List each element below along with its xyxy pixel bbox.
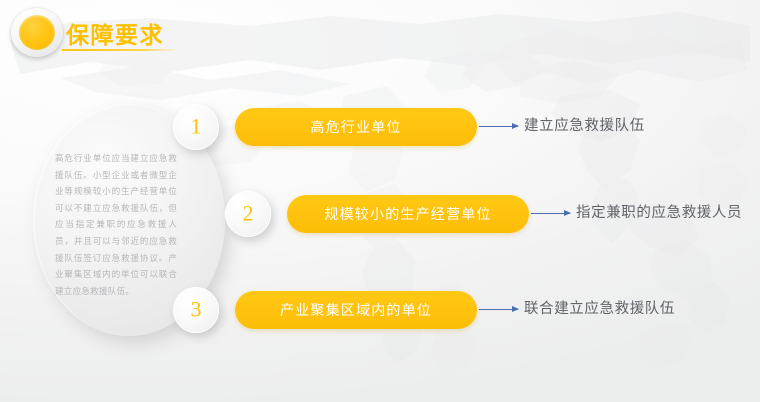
title-bullet-logo: [11, 8, 65, 58]
category-pill-label-1: 高危行业单位: [235, 117, 477, 137]
connector-arrow-1: [479, 126, 518, 127]
slide-canvas: 保障要求 高危行业单位应当建立应急救援队伍。小型企业或者微型企业等规模较小的生产…: [0, 0, 760, 402]
flow-row-1: 1 高危行业单位 建立应急救援队伍: [173, 104, 753, 150]
step-number-circle-2: 2: [225, 191, 271, 237]
page-title: 保障要求: [66, 16, 164, 50]
step-number-2: 2: [225, 200, 271, 226]
yellow-circle-bullet-icon: [19, 15, 55, 50]
flow-row-2: 2 规模较小的生产经营单位 指定兼职的应急救援人员: [225, 191, 760, 237]
category-pill-3[interactable]: 产业聚集区域内的单位: [235, 291, 477, 329]
step-number-1: 1: [173, 113, 219, 139]
category-pill-2[interactable]: 规模较小的生产经营单位: [287, 195, 529, 233]
step-number-circle-1: 1: [173, 104, 219, 150]
outcome-label-3: 联合建立应急救援队伍: [524, 297, 675, 318]
description-text: 高危行业单位应当建立应急救援队伍。小型企业或者微型企业等规模较小的生产经营单位可…: [55, 150, 177, 299]
category-pill-1[interactable]: 高危行业单位: [235, 108, 477, 146]
title-underline: [62, 49, 178, 51]
connector-arrow-3: [479, 309, 518, 310]
category-pill-label-2: 规模较小的生产经营单位: [287, 204, 529, 224]
flow-row-3: 3 产业聚集区域内的单位 联合建立应急救援队伍: [173, 287, 753, 333]
outcome-label-1: 建立应急救援队伍: [524, 114, 645, 135]
connector-arrow-2: [531, 213, 570, 214]
step-number-3: 3: [173, 296, 219, 322]
step-number-circle-3: 3: [173, 287, 219, 333]
outcome-label-2: 指定兼职的应急救援人员: [576, 201, 742, 222]
category-pill-label-3: 产业聚集区域内的单位: [235, 300, 477, 320]
